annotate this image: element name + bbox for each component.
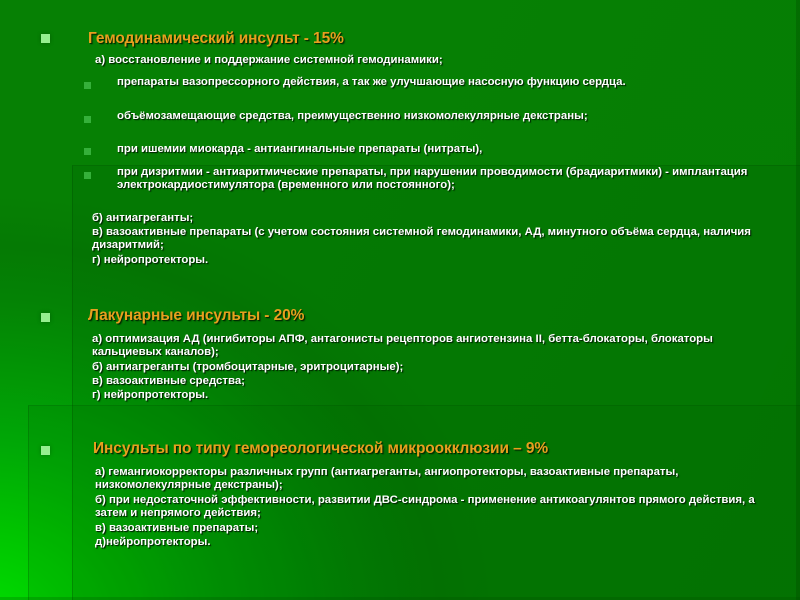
section-1-tail-item-3: г) нейропротекторы. (92, 254, 752, 267)
section-2-item-3: в) вазоактивные средства; (92, 375, 772, 388)
sub-bullet-marker-1-4 (84, 172, 91, 179)
section-1-tail-item-2: в) вазоактивные препараты (с учетом сост… (92, 226, 752, 252)
section-1-sub-item-4: при дизритмии - антиаритмические препара… (117, 166, 767, 193)
slide-canvas: Гемодинамический инсульт - 15% а) восста… (0, 0, 800, 600)
bullet-marker-section-3 (41, 446, 50, 455)
section-1-sub-item-2: объёмозамещающие средства, преимуществен… (117, 110, 717, 123)
sub-bullet-marker-1-3 (84, 148, 91, 155)
section-1-sub-item-1: препараты вазопрессорного действия, а та… (117, 76, 757, 89)
bullet-marker-section-1 (41, 34, 50, 43)
section-3-item-4: д)нейропротекторы. (95, 536, 755, 549)
section-3-heading: Инсульты по типу гемореологической микро… (93, 440, 548, 458)
section-3-item-2: б) при недостаточной эффективности, разв… (95, 494, 775, 520)
section-1-lead-text: а) восстановление и поддержание системно… (95, 54, 735, 67)
section-1-sub-item-3: при ишемии миокарда - антиангинальные пр… (117, 143, 757, 156)
section-3-item-3: в) вазоактивные препараты; (95, 522, 755, 535)
section-3-item-1: а) гемангиокорректоры различных групп (а… (95, 466, 755, 492)
section-2-heading: Лакунарные инсульты - 20% (88, 307, 304, 325)
bullet-marker-section-2 (41, 313, 50, 322)
sub-bullet-marker-1-2 (84, 116, 91, 123)
section-1-tail-item-1: б) антиагреганты; (92, 212, 752, 225)
section-2-item-1: а) оптимизация АД (ингибиторы АПФ, антаг… (92, 333, 772, 359)
section-2-item-4: г) нейропротекторы. (92, 389, 772, 402)
slide-content: Гемодинамический инсульт - 15% а) восста… (0, 0, 800, 600)
sub-bullet-marker-1-1 (84, 82, 91, 89)
section-2-item-2: б) антиагреганты (тромбоцитарные, эритро… (92, 361, 772, 374)
section-1-heading: Гемодинамический инсульт - 15% (88, 30, 344, 48)
